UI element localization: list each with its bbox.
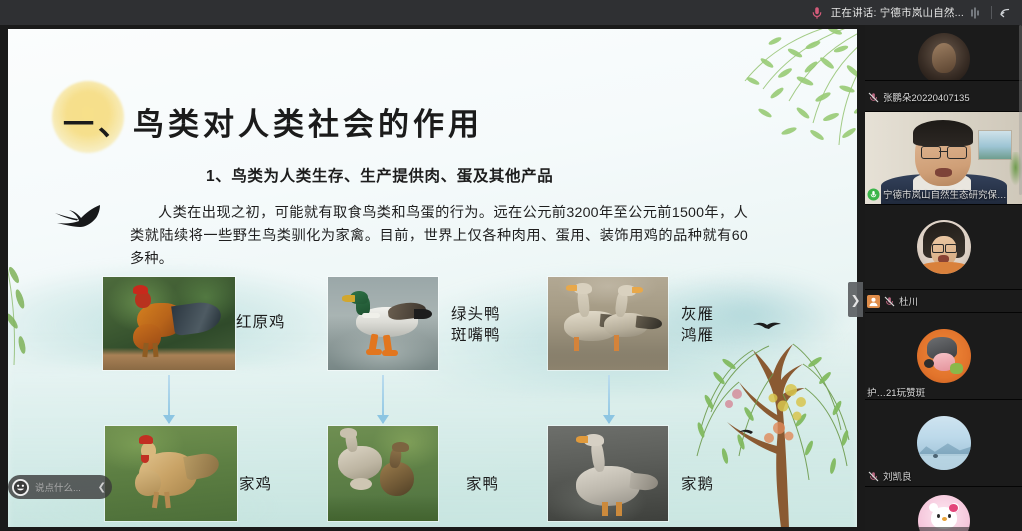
participant-namebar: 刘凯良 <box>865 468 916 484</box>
participant-tile[interactable]: 张鹏朵20220407135 <box>865 81 1022 112</box>
participant-tile[interactable] <box>865 205 1022 290</box>
chevron-right-icon: ❯ <box>850 294 860 306</box>
red-junglefowl-photo <box>103 277 235 370</box>
participant-tile[interactable]: 杜川 <box>865 290 1022 313</box>
participant-name: 刘凯良 <box>883 469 912 483</box>
label-mallard: 绿头鸭 斑嘴鸭 <box>451 304 501 346</box>
toolbar-divider <box>991 6 992 19</box>
participant-name: 护…21玩赞斑 <box>867 385 925 399</box>
participant-name: 杜川 <box>899 294 918 308</box>
host-badge-icon <box>867 295 880 308</box>
participant-tile[interactable] <box>865 25 1022 81</box>
avatar <box>917 329 971 383</box>
swallow-icon <box>50 197 105 233</box>
avatar <box>917 220 971 274</box>
chat-input-placeholder[interactable]: 说点什么... <box>35 480 96 494</box>
domestic-chicken-photo <box>105 426 237 521</box>
mic-active-icon <box>867 188 880 201</box>
mic-muted-icon <box>867 91 880 104</box>
label-greylag-line1: 灰雁 <box>681 304 714 325</box>
participants-sidebar[interactable]: 张鹏朵20220407135 <box>865 25 1022 531</box>
arrow-goose <box>602 375 616 423</box>
domestic-duck-photo <box>328 426 438 521</box>
label-red-junglefowl: 红原鸡 <box>236 312 286 333</box>
slide-expand-handle[interactable]: ❯ <box>848 282 863 317</box>
participant-name: 宁德市岚山自然生态研究保护中心… <box>883 187 1016 201</box>
chevron-left-icon[interactable]: ❮ <box>96 482 108 493</box>
label-greylag-line2: 鸿雁 <box>681 325 714 346</box>
slide-paragraph: 人类在出现之初，可能就有取食鸟类和鸟蛋的行为。远在公元前3200年至公元前150… <box>130 202 748 271</box>
avatar <box>918 495 970 531</box>
participant-namebar: 张鹏朵20220407135 <box>865 89 974 105</box>
participant-tile[interactable]: 护…21玩赞斑 <box>865 313 1022 400</box>
label-domestic-duck: 家鸭 <box>466 474 499 495</box>
presentation-stage: 一、鸟类对人类社会的作用 1、鸟类为人类生存、生产提供肉、蛋及其他产品 人类在出… <box>0 25 865 531</box>
speaking-status-text: 正在讲话: 宁德市岚山自然... <box>831 5 964 20</box>
label-domestic-goose: 家鹅 <box>681 474 714 495</box>
mic-speaking-icon <box>809 5 825 21</box>
smiley-icon[interactable] <box>12 479 29 496</box>
audio-wave-icon <box>969 5 983 21</box>
label-mallard-line2: 斑嘴鸭 <box>451 325 501 346</box>
slide-canvas: 一、鸟类对人类社会的作用 1、鸟类为人类生存、生产提供肉、蛋及其他产品 人类在出… <box>8 29 857 527</box>
participant-name: 张鹏朵20220407135 <box>883 90 970 104</box>
label-domestic-chicken: 家鸡 <box>239 474 272 495</box>
top-status-bar: 正在讲话: 宁德市岚山自然... <box>0 0 1022 25</box>
meeting-app-window: 正在讲话: 宁德市岚山自然... <box>0 0 1022 531</box>
willow-branches <box>617 29 857 158</box>
chat-input-bar[interactable]: 说点什么... ❮ <box>8 475 112 499</box>
leaf-sprig <box>8 261 38 371</box>
willow-tree <box>673 316 857 527</box>
participant-namebar: 杜川 <box>865 293 922 309</box>
avatar <box>917 416 971 470</box>
participant-namebar: 护…21玩赞斑 <box>865 384 929 400</box>
label-mallard-line1: 绿头鸭 <box>451 304 501 325</box>
participant-tile[interactable]: ❯ <box>865 487 1022 531</box>
mallard-duck-photo <box>328 277 438 370</box>
label-greylag: 灰雁 鸿雁 <box>681 304 714 346</box>
slide-title: 一、鸟类对人类社会的作用 <box>63 99 623 144</box>
arrow-duck <box>376 375 390 423</box>
participant-tile-active-speaker[interactable]: 宁德市岚山自然生态研究保护中心… <box>865 112 1022 205</box>
arrow-chicken <box>162 375 176 423</box>
participant-tile[interactable]: 刘凯良 <box>865 400 1022 487</box>
avatar <box>918 33 970 81</box>
greylag-goose-photo <box>548 277 668 370</box>
back-arrow-icon[interactable] <box>996 5 1016 21</box>
mic-muted-icon <box>867 470 880 483</box>
domestic-goose-photo <box>548 426 668 521</box>
slide-subtitle: 1、鸟类为人类生存、生产提供肉、蛋及其他产品 <box>206 164 806 186</box>
mic-muted-icon <box>883 295 896 308</box>
participant-namebar: 宁德市岚山自然生态研究保护中心… <box>865 186 1020 202</box>
